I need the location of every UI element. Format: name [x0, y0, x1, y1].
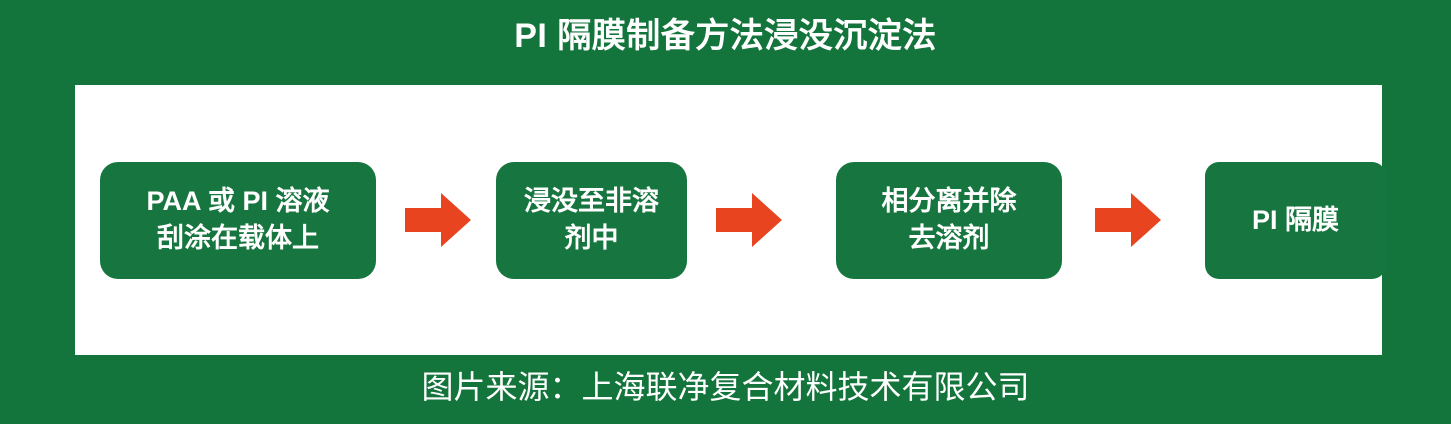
- process-node-3-line1: 相分离并除: [882, 186, 1017, 216]
- process-node-1-line1: PAA 或 PI 溶液: [146, 186, 329, 216]
- flow-diagram-panel: PAA 或 PI 溶液 刮涂在载体上 浸没至非溶 剂中: [75, 85, 1382, 355]
- process-node-1-label: PAA 或 PI 溶液 刮涂在载体上: [146, 183, 329, 257]
- right-block-arrow-icon: [1095, 191, 1161, 249]
- process-node-1: PAA 或 PI 溶液 刮涂在载体上: [100, 162, 376, 279]
- process-node-3: 相分离并除 去溶剂: [836, 162, 1062, 279]
- process-node-2: 浸没至非溶 剂中: [496, 162, 687, 279]
- right-block-arrow-icon: [716, 191, 782, 249]
- image-source-caption: 图片来源：上海联净复合材料技术有限公司: [0, 366, 1451, 408]
- process-flow: PAA 或 PI 溶液 刮涂在载体上 浸没至非溶 剂中: [75, 85, 1382, 355]
- process-node-2-line1: 浸没至非溶: [524, 186, 659, 216]
- process-node-2-line2: 剂中: [565, 223, 619, 253]
- process-node-3-label: 相分离并除 去溶剂: [882, 183, 1017, 257]
- process-node-2-label: 浸没至非溶 剂中: [524, 183, 659, 257]
- process-node-3-line2: 去溶剂: [909, 223, 990, 253]
- process-node-4: PI 隔膜: [1205, 162, 1386, 279]
- process-node-1-line2: 刮涂在载体上: [157, 223, 319, 253]
- right-block-arrow-icon: [405, 191, 471, 249]
- page-title: PI 隔膜制备方法浸没沉淀法: [0, 14, 1451, 58]
- process-node-4-label: PI 隔膜: [1252, 202, 1339, 239]
- poster-root: PI 隔膜制备方法浸没沉淀法 PAA 或 PI 溶液 刮涂在载体上 浸没至非溶 …: [0, 0, 1451, 424]
